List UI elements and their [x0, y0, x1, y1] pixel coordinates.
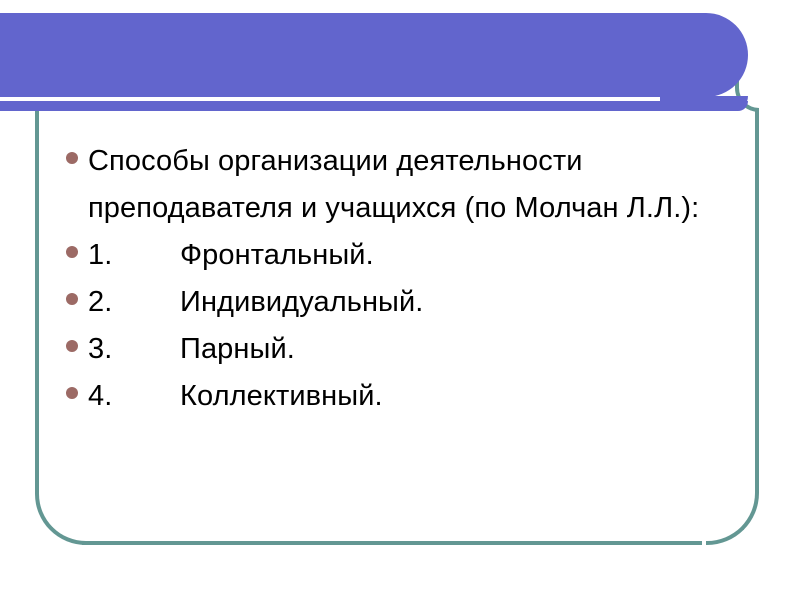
slide-title — [0, 13, 1, 14]
list-item-number: 3. — [88, 326, 180, 373]
list-item-number: 1. — [88, 232, 180, 279]
round-bullet-icon — [66, 246, 78, 258]
list-item-label: Парный. — [180, 333, 295, 365]
header-band — [0, 13, 748, 97]
list-item-number: 2. — [88, 279, 180, 326]
round-bullet-icon — [66, 340, 78, 352]
round-bullet-icon — [66, 152, 78, 164]
intro-paragraph: Способы организации деятельности препода… — [60, 138, 750, 232]
list-item-label: Коллективный. — [180, 380, 383, 412]
intro-paragraph-text: Способы организации деятельности препода… — [88, 145, 699, 224]
list-item-label: Фронтальный. — [180, 239, 374, 271]
round-bullet-icon — [66, 293, 78, 305]
frame-bottom-border — [82, 541, 702, 545]
frame-right-border — [755, 108, 759, 491]
frame-bottom-right-corner — [706, 491, 759, 545]
list-item: 3.Парный. — [60, 326, 750, 373]
list-item: 4.Коллективный. — [60, 373, 750, 420]
list-item-label: Индивидуальный. — [180, 286, 423, 318]
presentation-slide: Способы организации деятельности препода… — [0, 0, 800, 600]
round-bullet-icon — [66, 387, 78, 399]
list-item: 1.Фронтальный. — [60, 232, 750, 279]
list-item: 2.Индивидуальный. — [60, 279, 750, 326]
frame-bottom-left-corner — [35, 491, 86, 545]
header-band-strip-cap — [660, 96, 748, 111]
header-band-underline-strip — [0, 101, 748, 111]
slide-body: Способы организации деятельности препода… — [60, 138, 750, 420]
frame-left-border — [35, 108, 39, 491]
list-item-number: 4. — [88, 373, 180, 420]
